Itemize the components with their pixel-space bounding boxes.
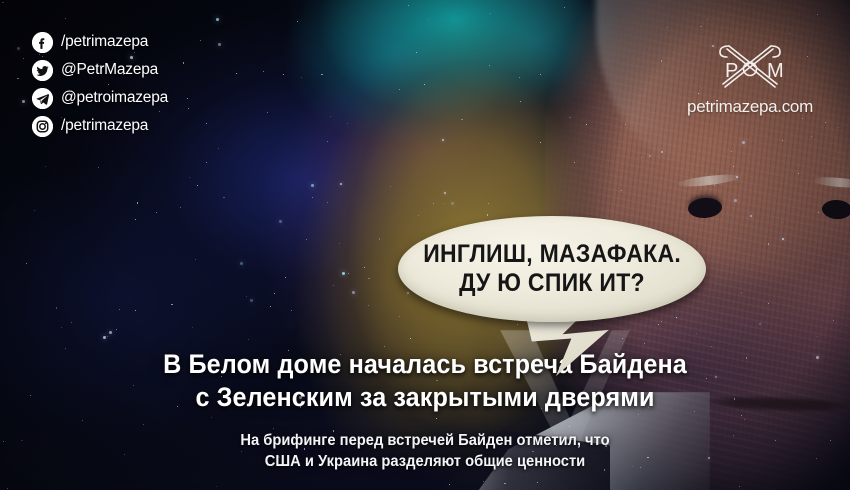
logo-url-text: petrimazepa.com [687,97,813,117]
social-row-instagram[interactable]: /petrimazepa [32,114,168,138]
telegram-icon [32,88,53,109]
poster-canvas: /petrimazepa @PetrMazepa @petroimazepa [0,0,850,490]
svg-text:P: P [725,60,738,82]
instagram-icon [32,116,53,137]
headline-line-2: с Зеленским за закрытыми дверями [88,381,763,414]
social-handle-facebook: /petrimazepa [61,33,148,51]
site-logo[interactable]: P M petrimazepa.com [675,40,825,117]
social-handle-telegram: @petroimazepa [61,89,168,107]
subheadline-line-1: На брифинге перед встречей Байден отмети… [21,430,829,451]
social-row-facebook[interactable]: /petrimazepa [32,30,168,54]
social-links-block: /petrimazepa @PetrMazepa @petroimazepa [32,30,168,138]
headline: В Белом доме началась встреча Байдена с … [0,348,850,414]
speech-bubble-line-1: ИНГЛИШ, МАЗАФАКА. [423,240,681,270]
subheadline-line-2: США и Украина разделяют общие ценности [21,451,829,472]
twitter-icon [32,60,53,81]
speech-bubble: ИНГЛИШ, МАЗАФАКА. ДУ Ю СПИК ИТ? [398,216,706,322]
social-handle-instagram: /petrimazepa [61,117,148,135]
crossed-sabers-pm-logo: P M [695,40,805,92]
social-row-twitter[interactable]: @PetrMazepa [32,58,168,82]
subheadline: На брифинге перед встречей Байден отмети… [0,430,850,472]
facebook-icon [32,32,53,53]
social-handle-twitter: @PetrMazepa [61,61,158,79]
speech-bubble-line-2: ДУ Ю СПИК ИТ? [459,269,645,299]
social-row-telegram[interactable]: @petroimazepa [32,86,168,110]
headline-line-1: В Белом доме началась встреча Байдена [88,348,763,381]
speech-bubble-group: ИНГЛИШ, МАЗАФАКА. ДУ Ю СПИК ИТ? [398,216,706,322]
svg-text:M: M [767,60,784,82]
